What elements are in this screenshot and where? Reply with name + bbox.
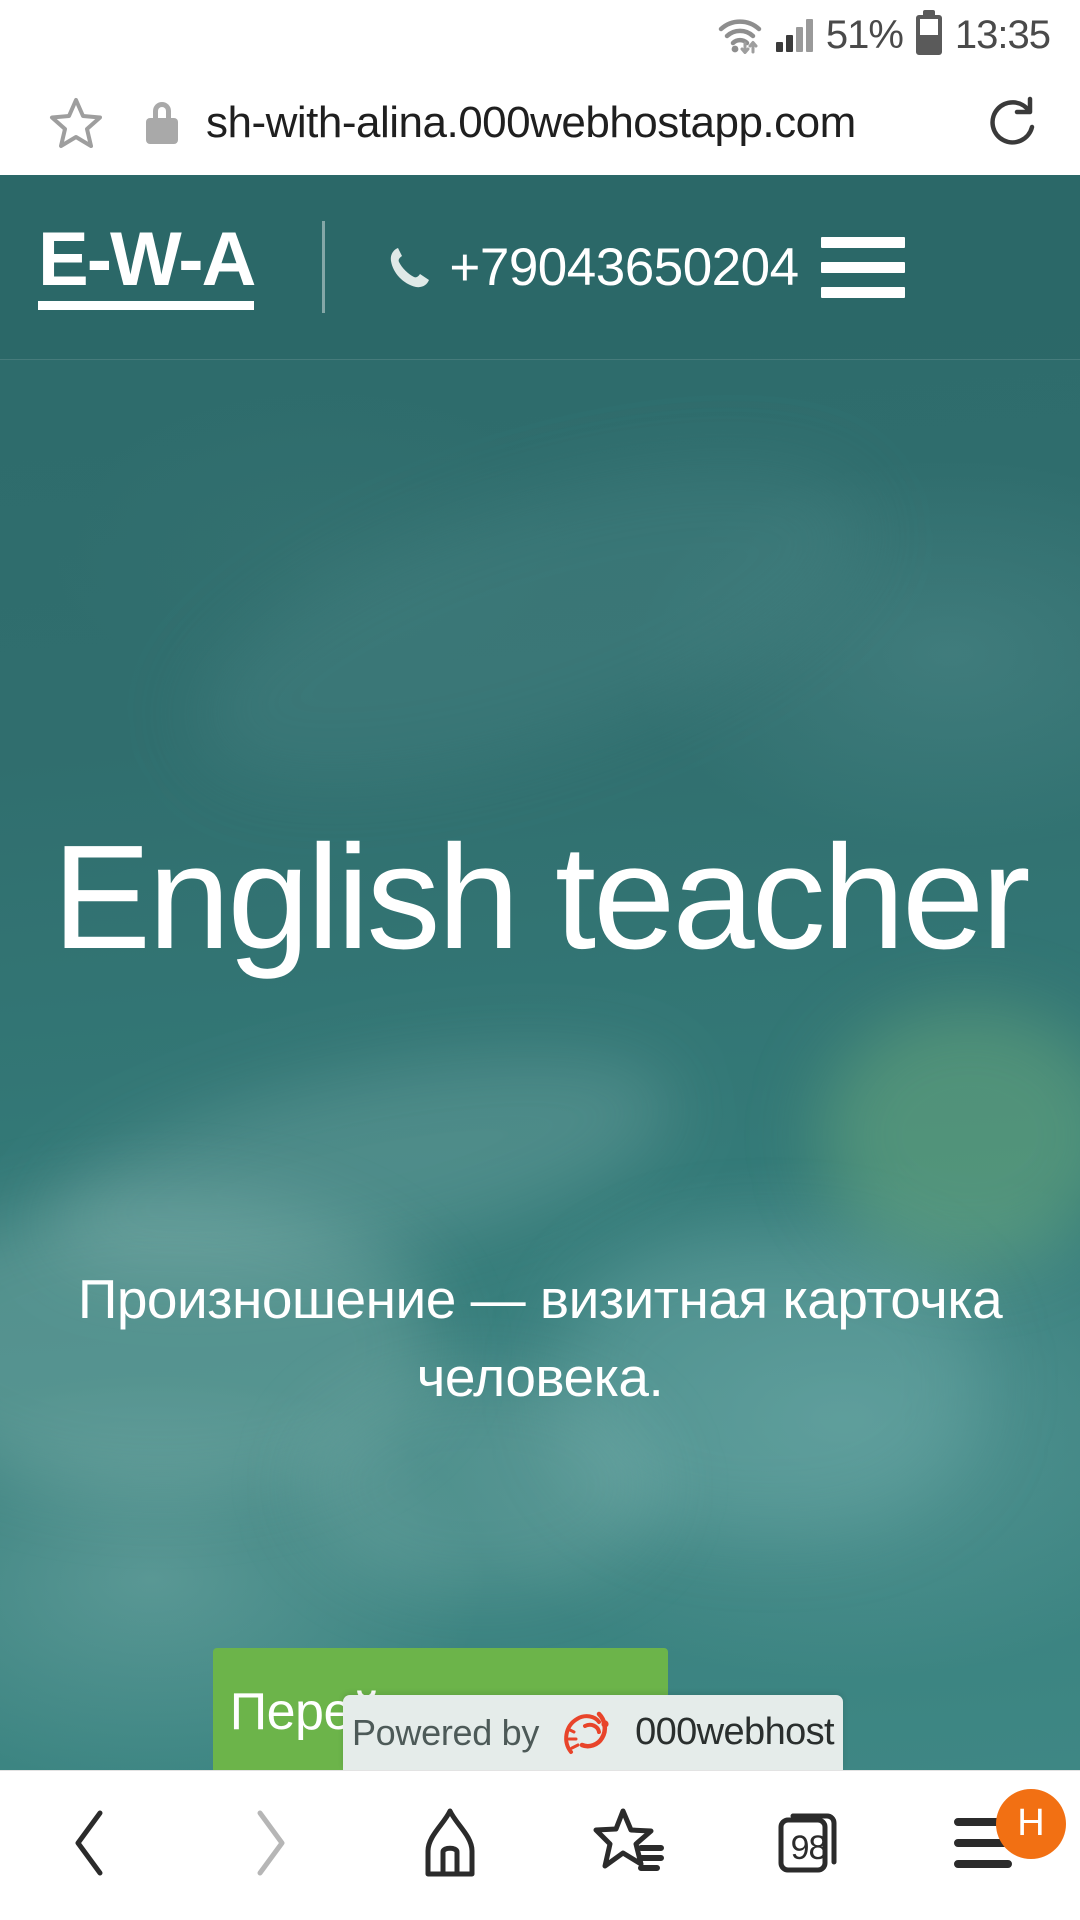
powered-by-label: Powered by: [352, 1712, 539, 1754]
phone-number[interactable]: +79043650204: [449, 237, 798, 298]
phone-screen: 51% 13:35 sh-with-alina.000webhostapp.co…: [0, 0, 1080, 1920]
site-header: E-W-A +79043650204: [0, 175, 1080, 360]
wifi-icon: [717, 16, 763, 54]
000webhost-swirl-icon: [561, 1708, 613, 1758]
page-title: English teacher: [0, 820, 1080, 975]
webpage-viewport: E-W-A +79043650204 English teacher Произ…: [0, 175, 1080, 1770]
star-list-icon: [591, 1806, 669, 1885]
browser-bottom-nav: 98 H: [0, 1770, 1080, 1920]
hamburger-menu-icon[interactable]: [821, 237, 905, 298]
cellular-signal-icon: [776, 18, 813, 52]
nav-menu-button[interactable]: H: [900, 1771, 1080, 1920]
lock-icon: [146, 102, 178, 144]
site-logo[interactable]: E-W-A: [38, 224, 254, 309]
status-bar: 51% 13:35: [0, 0, 1080, 70]
home-icon: [414, 1806, 486, 1885]
nav-back-button[interactable]: [0, 1771, 180, 1920]
reload-icon[interactable]: [984, 93, 1044, 153]
header-phone-link[interactable]: +79043650204: [387, 237, 798, 298]
background-blur-shape: [160, 403, 900, 848]
nav-bookmarks-button[interactable]: [540, 1771, 720, 1920]
tab-count-label: 98: [791, 1828, 827, 1867]
chevron-right-icon: [242, 1807, 298, 1884]
nav-forward-button[interactable]: [180, 1771, 360, 1920]
battery-percentage: 51%: [826, 13, 903, 58]
header-divider: [322, 221, 325, 313]
hero-subtitle: Произношение — визитная карточка человек…: [0, 1260, 1080, 1416]
nav-tabs-button[interactable]: 98: [720, 1771, 900, 1920]
nav-home-button[interactable]: [360, 1771, 540, 1920]
star-outline-icon[interactable]: [48, 95, 104, 151]
background-blur-shape: [820, 1005, 1080, 1265]
clock-time: 13:35: [955, 13, 1050, 58]
000webhost-brand-label: 000webhost: [635, 1711, 834, 1754]
battery-icon: [916, 15, 942, 55]
url-text[interactable]: sh-with-alina.000webhostapp.com: [206, 98, 972, 148]
menu-notification-badge: H: [996, 1789, 1066, 1859]
powered-by-badge[interactable]: Powered by 000webhost: [343, 1695, 843, 1770]
chevron-left-icon: [62, 1807, 118, 1884]
phone-icon: [387, 244, 431, 290]
browser-url-bar[interactable]: sh-with-alina.000webhostapp.com: [0, 70, 1080, 175]
